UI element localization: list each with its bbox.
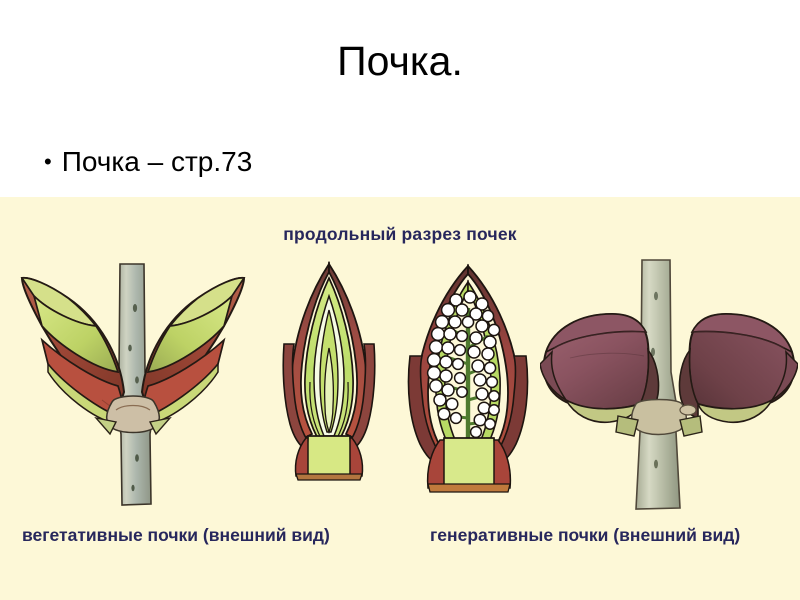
bullet-item-label: Почка – стр.73 [62, 144, 253, 180]
generative-bud-right [679, 314, 798, 422]
bud-base [428, 438, 511, 492]
figure-vegetative-bud-section [268, 252, 390, 522]
figure-generative-buds-external [540, 252, 798, 522]
bud-base [295, 436, 362, 480]
figure-generative-bud-section [398, 252, 538, 522]
figure-vegetative-buds-external [4, 252, 262, 522]
figure-labels-row: вегетативные почки (внешний вид) генерат… [0, 525, 800, 559]
illustration-panel: продольный разрез почек [0, 197, 800, 600]
bullet-marker-icon: • [44, 144, 52, 180]
page-title: Почка. [0, 40, 800, 83]
generative-bud-section-drawing [398, 252, 538, 517]
label-vegetative-buds: вегетативные почки (внешний вид) [22, 525, 330, 546]
panel-caption: продольный разрез почек [0, 224, 800, 245]
bullet-list-item: • Почка – стр.73 [44, 144, 252, 180]
generative-buds-external-drawing [540, 252, 798, 517]
bud-right [142, 278, 244, 424]
bud-left [22, 278, 124, 424]
vegetative-bud-section-drawing [268, 252, 390, 517]
vegetative-buds-external-drawing [4, 252, 262, 517]
figure-row [0, 252, 800, 517]
label-generative-buds: генеративные почки (внешний вид) [430, 525, 740, 546]
